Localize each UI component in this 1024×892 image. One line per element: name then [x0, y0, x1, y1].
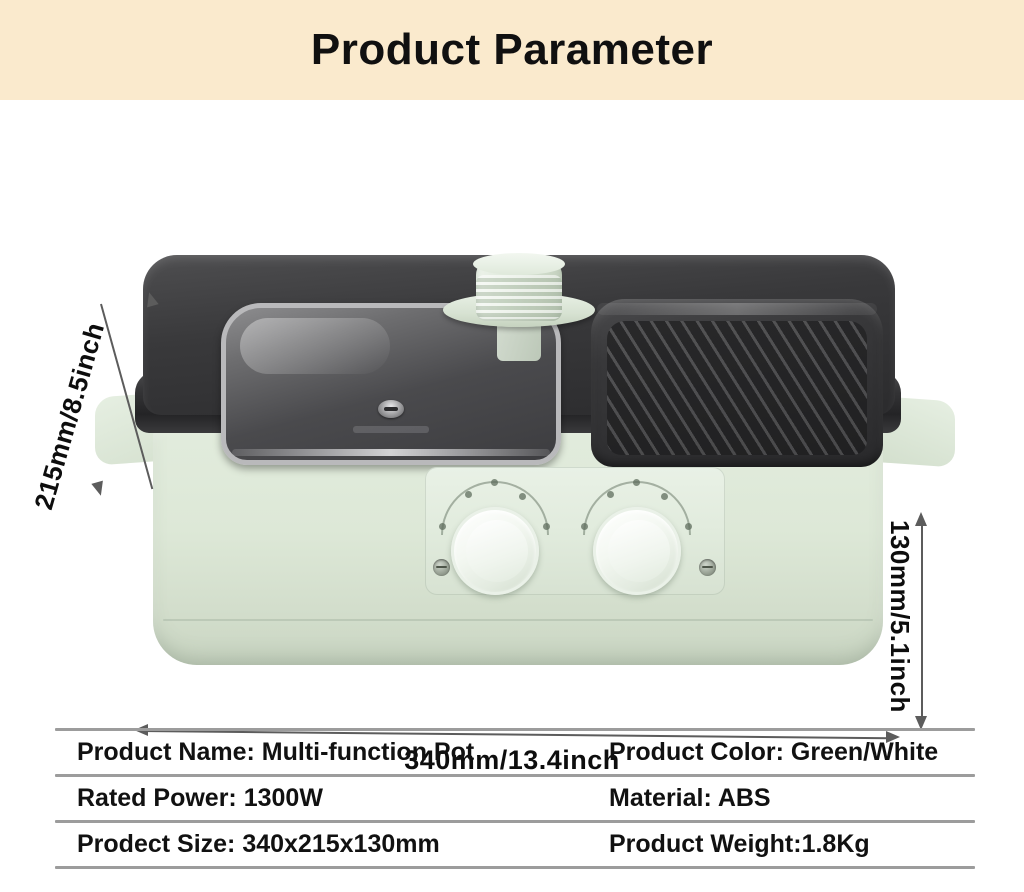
lid-rim-highlight	[232, 449, 550, 456]
scale-tick	[607, 491, 614, 498]
scale-tick	[661, 493, 668, 500]
scale-tick	[633, 479, 640, 486]
scale-tick	[439, 523, 446, 530]
lid-knob-cap	[473, 253, 565, 275]
lid-glare	[240, 318, 390, 374]
height-dimension-line	[921, 524, 923, 718]
table-row: Rated Power: 1300W Material: ABS	[55, 777, 975, 820]
spec-product-weight: Product Weight:1.8Kg	[595, 830, 975, 859]
spec-product-size: Prodect Size: 340x215x130mm	[55, 830, 595, 859]
scale-tick	[685, 523, 692, 530]
cooking-deck	[143, 255, 895, 415]
page-title: Product Parameter	[311, 25, 713, 75]
temperature-knob-right[interactable]	[593, 507, 681, 595]
grill-ridges	[607, 321, 867, 455]
scale-tick	[581, 523, 588, 530]
product-parameter-page: Product Parameter	[0, 0, 1024, 892]
lid-knob[interactable]	[476, 259, 562, 321]
control-panel	[425, 467, 725, 595]
temperature-knob-left[interactable]	[451, 507, 539, 595]
spec-product-name: Product Name: Multi-function Pot	[55, 738, 595, 767]
spec-product-color: Product Color: Green/White	[595, 738, 975, 767]
product-appliance-illustration	[95, 175, 955, 685]
scale-tick	[543, 523, 550, 530]
specification-table: Product Name: Multi-function Pot Product…	[55, 728, 975, 869]
grill-lip-highlight	[597, 303, 877, 315]
spec-material: Material: ABS	[595, 784, 975, 813]
height-dimension-label: 130mm/5.1inch	[884, 520, 915, 713]
table-row: Prodect Size: 340x215x130mm Product Weig…	[55, 823, 975, 866]
lid-knob-ribs	[476, 275, 562, 319]
table-rule	[55, 866, 975, 869]
header-banner: Product Parameter	[0, 0, 1024, 100]
panel-screw-right	[699, 559, 716, 576]
lid-printed-mark	[353, 426, 429, 433]
scale-tick	[519, 493, 526, 500]
product-photo-stage: 340mm/13.4inch 130mm/5.1inch 215mm/8.5in…	[0, 100, 1024, 710]
steam-vent	[378, 400, 404, 418]
grill-plate	[591, 299, 883, 467]
spec-rated-power: Rated Power: 1300W	[55, 784, 595, 813]
table-row: Product Name: Multi-function Pot Product…	[55, 731, 975, 774]
height-arrow-top-icon	[915, 512, 927, 526]
grill-surface	[607, 321, 867, 455]
scale-tick	[465, 491, 472, 498]
scale-tick	[491, 479, 498, 486]
panel-screw-left	[433, 559, 450, 576]
